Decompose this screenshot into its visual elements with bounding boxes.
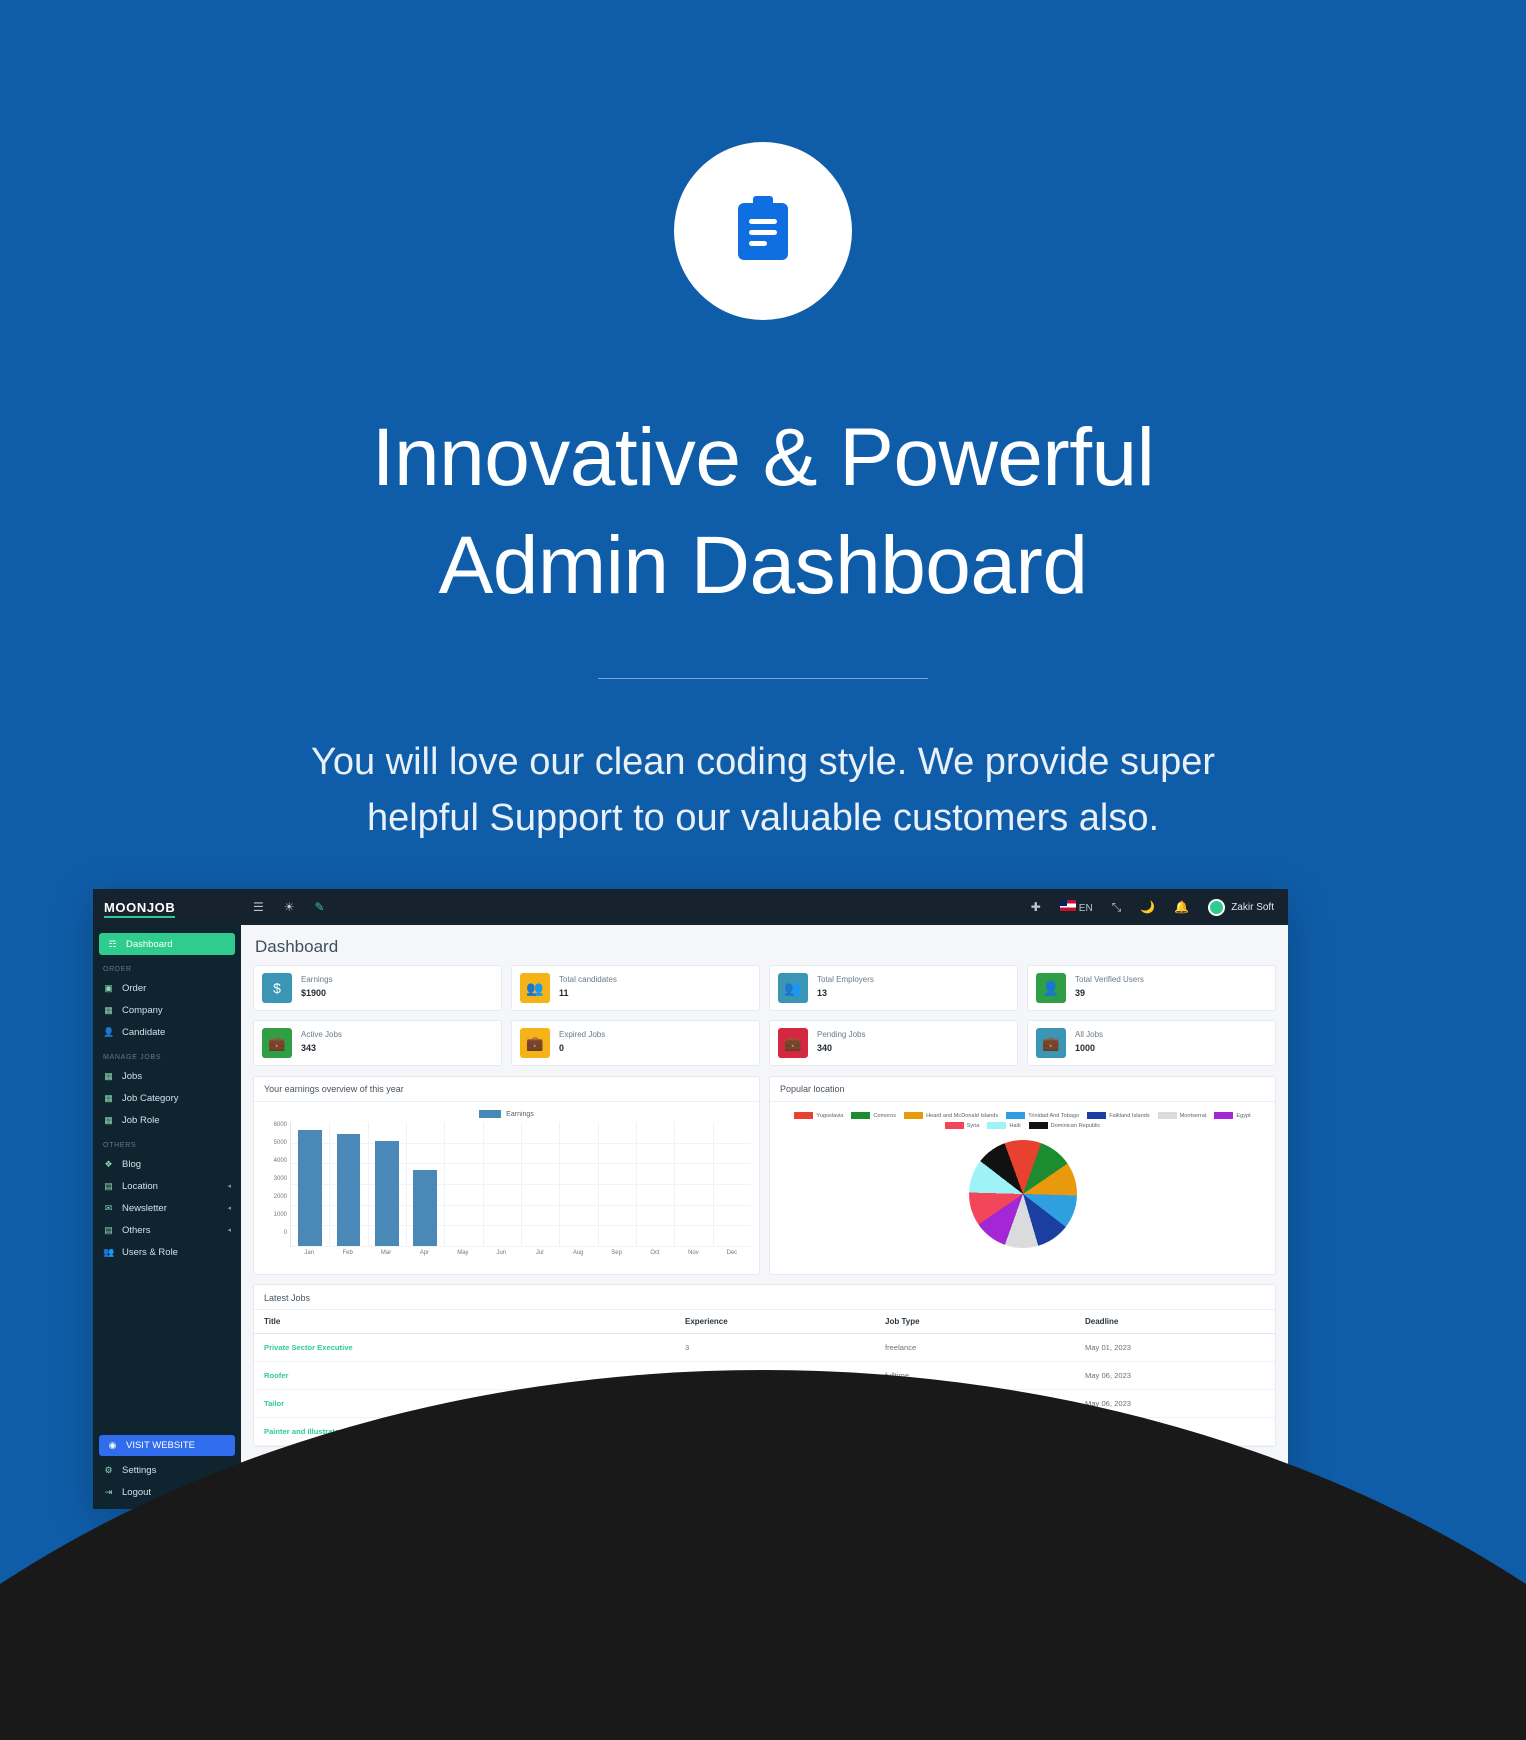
topbar-right-icons: ✚ EN ⤡ 🌙 🔔 Zakir Soft (1031, 898, 1288, 916)
x-tick: May (444, 1247, 482, 1256)
bell-icon[interactable]: 🔔 (1174, 901, 1189, 913)
bar (337, 1134, 361, 1246)
bar (413, 1170, 437, 1246)
candidate-icon: 👤 (103, 1027, 114, 1038)
hero-subtitle-line1: You will love our clean coding style. We… (311, 741, 1215, 783)
sidebar-item-label: Logout (122, 1487, 151, 1498)
legend-label: Comoros (873, 1113, 896, 1119)
legend-label: Syria (967, 1123, 980, 1129)
visit-website-button[interactable]: ◉ VISIT WEBSITE (99, 1435, 235, 1456)
column-header-deadline: Deadline (1075, 1310, 1275, 1334)
legend-item[interactable]: Haiti (987, 1122, 1020, 1129)
gear-icon: ⚙ (103, 1465, 114, 1476)
table-header-row: Title Experience Job Type Deadline (254, 1310, 1275, 1334)
stat-card-label: Expired Jobs (559, 1029, 605, 1041)
stat-card-value: $1900 (301, 986, 333, 1001)
stat-card-grid: $ Earnings $1900 👥 Total candidates 11 (241, 965, 1288, 1066)
sidebar-item-label: Users & Role (122, 1247, 178, 1258)
legend-label: Trinidad And Tobago (1028, 1113, 1079, 1119)
legend-item[interactable]: Egypt (1214, 1112, 1250, 1119)
stat-card-active-jobs[interactable]: 💼 Active Jobs 343 (253, 1020, 502, 1066)
pie-legend: YugoslaviaComorosHeard and McDonald Isla… (778, 1110, 1267, 1135)
legend-swatch (1214, 1112, 1233, 1119)
y-tick: 6000 (274, 1122, 287, 1128)
hero-badge (674, 142, 852, 320)
sidebar-item-label: Location (122, 1181, 158, 1192)
briefcase-icon: 💼 (1036, 1028, 1066, 1058)
bar-column (713, 1122, 751, 1246)
bar-column (329, 1122, 367, 1246)
bar-column (368, 1122, 406, 1246)
column-header-experience: Experience (675, 1310, 875, 1334)
logout-icon: ⇥ (103, 1487, 114, 1498)
legend-label: Yugoslavia (816, 1113, 843, 1119)
legend-label: Haiti (1009, 1123, 1020, 1129)
legend-label: Egypt (1236, 1113, 1250, 1119)
x-tick: Aug (559, 1247, 597, 1256)
sidebar-item-others[interactable]: ▤ Others ◂ (93, 1219, 241, 1241)
legend-label: Falkland Islands (1109, 1113, 1149, 1119)
x-tick: Feb (328, 1247, 366, 1256)
legend-item[interactable]: Montserrat (1158, 1112, 1207, 1119)
bar-chart-plot (290, 1122, 751, 1247)
dashboard-icon: ☶ (107, 939, 118, 950)
stat-card-total-verified-users[interactable]: 👤 Total Verified Users 39 (1027, 965, 1276, 1011)
gridline (291, 1246, 751, 1247)
chart-legend: Earnings (262, 1110, 751, 1118)
avatar (1208, 899, 1225, 916)
order-icon: ▣ (103, 983, 114, 994)
page-root: Innovative & Powerful Admin Dashboard Yo… (0, 0, 1526, 1740)
stat-card-value: 11 (559, 986, 617, 1001)
sidebar-item-dashboard[interactable]: ☶ Dashboard (99, 933, 235, 955)
sidebar-item-label: Blog (122, 1159, 141, 1170)
x-tick: Sep (597, 1247, 635, 1256)
column-header-title: Title (254, 1310, 675, 1334)
blog-icon: ❖ (103, 1159, 114, 1170)
legend-item[interactable]: Yugoslavia (794, 1112, 843, 1119)
job-deadline: May 01, 2023 (1075, 1334, 1275, 1362)
sidebar-item-label: Settings (122, 1465, 156, 1476)
stat-card-all-jobs[interactable]: 💼 All Jobs 1000 (1027, 1020, 1276, 1066)
y-tick: 0 (284, 1230, 287, 1236)
hero-title-line1: Innovative & Powerful (0, 404, 1526, 512)
app-topbar: MOONJOB ☰ ☀ ✎ ✚ EN ⤡ 🌙 🔔 Zakir Soft (93, 889, 1288, 925)
sidebar-section-title: OTHERS (93, 1131, 241, 1153)
bar-column (291, 1122, 329, 1246)
briefcase-icon: 💼 (520, 1028, 550, 1058)
legend-swatch (794, 1112, 813, 1119)
popular-location-title: Popular location (770, 1077, 1275, 1102)
job-role-icon: ▦ (103, 1115, 114, 1126)
stat-card-value: 39 (1075, 986, 1144, 1001)
moon-icon[interactable]: 🌙 (1140, 901, 1155, 913)
popular-location-panel: Popular location YugoslaviaComorosHeard … (769, 1076, 1276, 1275)
bar-column (674, 1122, 712, 1246)
bar-column (559, 1122, 597, 1246)
x-axis-ticks: JanFebMarAprMayJunJulAugSepOctNovDec (262, 1247, 751, 1256)
stat-card-expired-jobs[interactable]: 💼 Expired Jobs 0 (511, 1020, 760, 1066)
sidebar-item-location[interactable]: ▤ Location ◂ (93, 1175, 241, 1197)
y-tick: 4000 (274, 1158, 287, 1164)
earnings-chart-panel: Your earnings overview of this year Earn… (253, 1076, 760, 1275)
hero-subtitle-line2: helpful Support to our valuable customer… (367, 797, 1159, 839)
sidebar-nav: ☶ Dashboard ORDER ▣ Order ▦ Company 👤 (93, 933, 241, 1435)
legend-label-earnings: Earnings (506, 1111, 534, 1118)
x-tick: Apr (405, 1247, 443, 1256)
legend-swatch (1158, 1112, 1177, 1119)
y-tick: 1000 (274, 1212, 287, 1218)
legend-swatch-earnings (479, 1110, 501, 1118)
bar-column (521, 1122, 559, 1246)
sidebar-item-label: Company (122, 1005, 163, 1016)
pen-icon[interactable]: ✎ (315, 901, 325, 913)
sidebar-item-label: Job Category (122, 1093, 179, 1104)
hero-section: Innovative & Powerful Admin Dashboard Yo… (0, 0, 1526, 846)
legend-swatch (1087, 1112, 1106, 1119)
stat-card-value: 340 (817, 1041, 865, 1056)
x-tick: Dec (713, 1247, 751, 1256)
x-tick: Nov (674, 1247, 712, 1256)
stat-card-total-candidates[interactable]: 👥 Total candidates 11 (511, 965, 760, 1011)
language-label: EN (1079, 903, 1093, 914)
bar-column (598, 1122, 636, 1246)
stat-card-label: Pending Jobs (817, 1029, 865, 1041)
briefcase-icon: 💼 (262, 1028, 292, 1058)
page-title: Innovative & Powerful Admin Dashboard (0, 404, 1526, 620)
sidebar-item-job-role[interactable]: ▦ Job Role (93, 1109, 241, 1131)
bar-column (483, 1122, 521, 1246)
expand-icon[interactable]: ⤡ (1112, 901, 1122, 913)
topbar-left-icons: ☰ ☀ ✎ (241, 901, 325, 913)
stat-card-earnings[interactable]: $ Earnings $1900 (253, 965, 502, 1011)
dollar-icon: $ (262, 973, 292, 1003)
job-title[interactable]: Private Sector Executive (254, 1334, 675, 1362)
stat-card-label: Active Jobs (301, 1029, 342, 1041)
earnings-chart-title: Your earnings overview of this year (254, 1077, 759, 1102)
sidebar-item-label: VISIT WEBSITE (126, 1440, 195, 1451)
employers-icon: 👥 (778, 973, 808, 1003)
popular-location-body: YugoslaviaComorosHeard and McDonald Isla… (770, 1102, 1275, 1274)
users-icon: 👥 (520, 973, 550, 1003)
stat-card-label: Total Employers (817, 974, 874, 986)
sidebar-item-blog[interactable]: ❖ Blog (93, 1153, 241, 1175)
legend-swatch (904, 1112, 923, 1119)
hero-title-line2: Admin Dashboard (0, 512, 1526, 620)
user-menu[interactable]: Zakir Soft (1208, 899, 1274, 916)
legend-label: Montserrat (1180, 1113, 1207, 1119)
y-axis-ticks: 6000500040003000200010000 (262, 1122, 290, 1247)
hero-subtitle: You will love our clean coding style. We… (268, 735, 1258, 845)
column-header-job-type: Job Type (875, 1310, 1075, 1334)
bar (375, 1141, 399, 1246)
x-tick: Jan (290, 1247, 328, 1256)
flag-icon[interactable]: EN (1060, 898, 1093, 916)
stat-card-label: Total candidates (559, 974, 617, 986)
bar (298, 1130, 322, 1246)
company-icon: ▦ (103, 1005, 114, 1016)
sidebar-item-order[interactable]: ▣ Order (93, 977, 241, 999)
user-name: Zakir Soft (1231, 902, 1274, 913)
chevron-left-icon: ◂ (227, 1204, 231, 1212)
chevron-left-icon: ◂ (227, 1226, 231, 1234)
bar-chart: 6000500040003000200010000 (262, 1122, 751, 1247)
stat-card-label: Earnings (301, 974, 333, 986)
y-tick: 3000 (274, 1176, 287, 1182)
legend-item[interactable]: Falkland Islands (1087, 1112, 1149, 1119)
x-tick: Mar (367, 1247, 405, 1256)
legend-swatch (1029, 1122, 1048, 1129)
sidebar-item-newsletter[interactable]: ✉ Newsletter ◂ (93, 1197, 241, 1219)
x-tick: Oct (636, 1247, 674, 1256)
job-deadline: May 06, 2023 (1075, 1362, 1275, 1390)
globe-icon[interactable]: ☀ (284, 901, 295, 913)
stat-card-pending-jobs[interactable]: 💼 Pending Jobs 340 (769, 1020, 1018, 1066)
jobs-icon: ▦ (103, 1071, 114, 1082)
others-icon: ▤ (103, 1225, 114, 1236)
plus-icon[interactable]: ✚ (1031, 901, 1041, 913)
table-row[interactable]: Private Sector Executive3freelanceMay 01… (254, 1334, 1275, 1362)
stat-card-value: 0 (559, 1041, 605, 1056)
legend-label: Dominican Republic (1051, 1123, 1101, 1129)
job-type: freelance (875, 1334, 1075, 1362)
stat-card-label: Total Verified Users (1075, 974, 1144, 986)
x-tick: Jun (482, 1247, 520, 1256)
user-check-icon: 👤 (1036, 973, 1066, 1003)
legend-item[interactable]: Trinidad And Tobago (1006, 1112, 1079, 1119)
job-experience: 3 (675, 1334, 875, 1362)
sidebar-item-label: Order (122, 983, 146, 994)
legend-item[interactable]: Syria (945, 1122, 980, 1129)
sidebar-item-candidate[interactable]: 👤 Candidate (93, 1021, 241, 1043)
bar-column (406, 1122, 444, 1246)
sidebar-item-company[interactable]: ▦ Company (93, 999, 241, 1021)
bar-column (636, 1122, 674, 1246)
pie-chart-wrap (778, 1135, 1267, 1253)
stat-card-value: 1000 (1075, 1041, 1103, 1056)
pie-chart (969, 1140, 1077, 1248)
earnings-chart-body: Earnings 6000500040003000200010000 JanFe… (254, 1102, 759, 1274)
legend-swatch (945, 1122, 964, 1129)
divider (598, 678, 928, 679)
globe-icon: ◉ (107, 1440, 118, 1451)
sidebar-item-jobs[interactable]: ▦ Jobs (93, 1065, 241, 1087)
newsletter-icon: ✉ (103, 1203, 114, 1214)
hamburger-icon[interactable]: ☰ (253, 901, 264, 913)
sidebar-item-label: Candidate (122, 1027, 165, 1038)
stat-card-value: 343 (301, 1041, 342, 1056)
location-icon: ▤ (103, 1181, 114, 1192)
legend-swatch (851, 1112, 870, 1119)
bar-column (444, 1122, 482, 1246)
legend-item[interactable]: Dominican Republic (1029, 1122, 1101, 1129)
briefcase-icon: 💼 (778, 1028, 808, 1058)
x-tick: Jul (521, 1247, 559, 1256)
sidebar: ☶ Dashboard ORDER ▣ Order ▦ Company 👤 (93, 925, 241, 1509)
y-tick: 2000 (274, 1194, 287, 1200)
sidebar-section-title: MANAGE JOBS (93, 1043, 241, 1065)
dashboard-heading: Dashboard (241, 925, 1288, 965)
legend-swatch (987, 1122, 1006, 1129)
users-role-icon: 👥 (103, 1247, 114, 1258)
sidebar-item-users-role[interactable]: 👥 Users & Role (93, 1241, 241, 1263)
legend-item[interactable]: Heard and McDonald Islands (904, 1112, 998, 1119)
sidebar-item-label: Newsletter (122, 1203, 167, 1214)
brand-logo[interactable]: MOONJOB (93, 900, 241, 915)
legend-item[interactable]: Comoros (851, 1112, 896, 1119)
stat-card-total-employers[interactable]: 👥 Total Employers 13 (769, 965, 1018, 1011)
sidebar-item-label: Others (122, 1225, 151, 1236)
stat-card-value: 13 (817, 986, 874, 1001)
stat-card-label: All Jobs (1075, 1029, 1103, 1041)
chevron-left-icon: ◂ (227, 1182, 231, 1190)
charts-row: Your earnings overview of this year Earn… (241, 1066, 1288, 1275)
latest-jobs-title: Latest Jobs (254, 1285, 1275, 1309)
sidebar-item-label: Dashboard (126, 939, 172, 950)
sidebar-item-label: Jobs (122, 1071, 142, 1082)
y-tick: 5000 (274, 1140, 287, 1146)
sidebar-item-job-category[interactable]: ▦ Job Category (93, 1087, 241, 1109)
clipboard-icon (735, 195, 791, 268)
sidebar-item-label: Job Role (122, 1115, 160, 1126)
sidebar-section-title: ORDER (93, 955, 241, 977)
job-category-icon: ▦ (103, 1093, 114, 1104)
legend-label: Heard and McDonald Islands (926, 1113, 998, 1119)
legend-swatch (1006, 1112, 1025, 1119)
